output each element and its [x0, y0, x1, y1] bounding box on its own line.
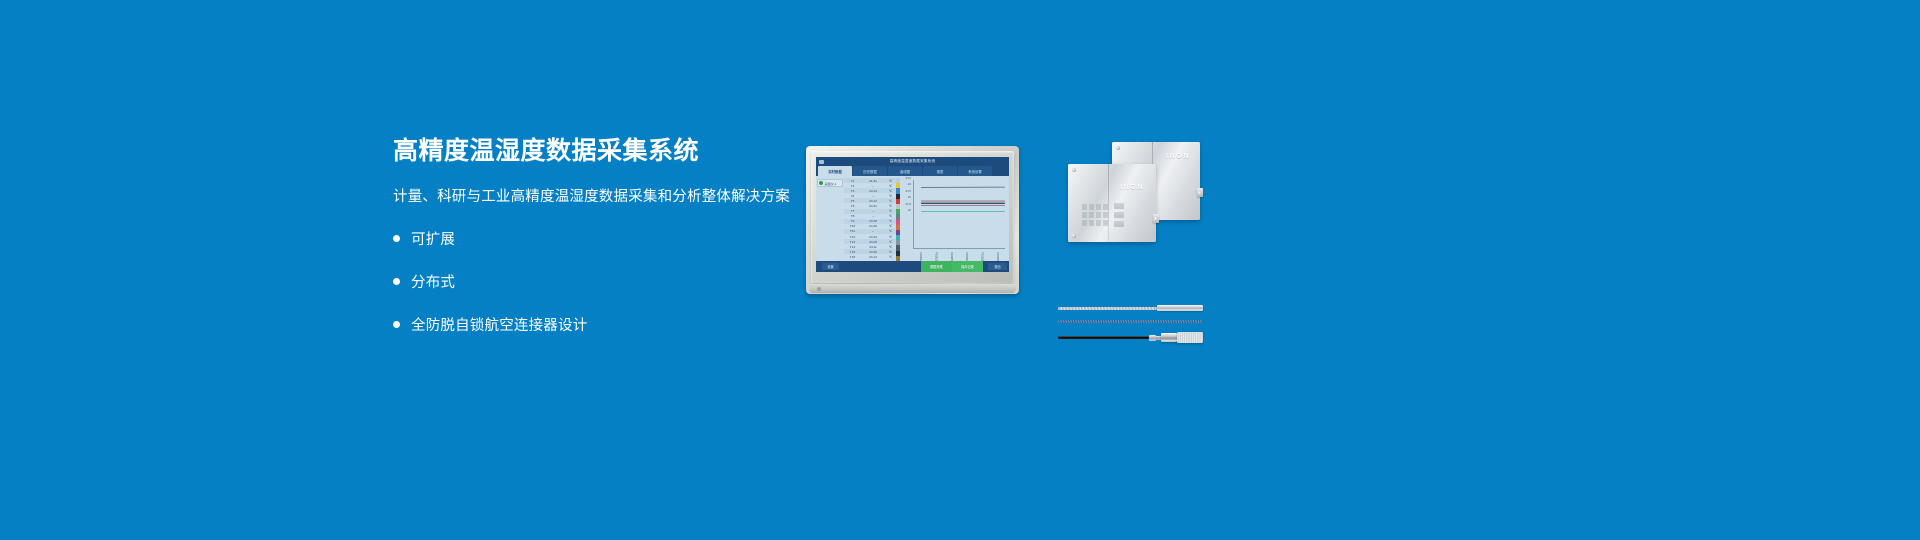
- feature-label: 全防脱自锁航空连接器设计: [411, 314, 587, 335]
- exit-button[interactable]: 退出: [988, 263, 1007, 270]
- channel-unit: ℃: [885, 204, 896, 208]
- channel-value: 21.31: [861, 179, 885, 183]
- table-row[interactable]: T1224.34℃: [844, 234, 896, 239]
- chart-y-tick-label: 23.5: [906, 189, 911, 193]
- channel-unit: ℃: [885, 250, 896, 254]
- channel-id: T7: [844, 209, 861, 213]
- table-row[interactable]: T524.12℃: [844, 198, 896, 203]
- terminal-cell: [1089, 204, 1094, 210]
- app-body: 采集仪-1 T121.31℃T2--℃T324.14℃T4--℃T524.12℃…: [816, 176, 1009, 261]
- channel-unit: ℃: [885, 240, 896, 244]
- product-banner: 高精度温湿度数据采集系统 计量、科研与工业高精度温湿度数据采集和分析整体解决方案…: [0, 0, 1920, 540]
- channel-unit: ℃: [885, 199, 896, 203]
- channel-unit: ℃: [885, 219, 896, 223]
- black-cable: [1058, 336, 1149, 339]
- chart-x-tick-label: 10:21:10: [965, 254, 968, 261]
- tab-curve-chart[interactable]: 曲线图: [888, 166, 922, 176]
- page-title: 高精度温湿度数据采集系统: [393, 138, 793, 166]
- chart-x-tick-label: 10:21:30: [981, 254, 984, 261]
- device-stand-screw-icon: [817, 287, 821, 291]
- module-brand-label: INON: [1120, 184, 1144, 191]
- module-seam: [1108, 164, 1109, 242]
- chart-y-tick-label: 22: [908, 208, 911, 212]
- connector-slot: [1114, 212, 1124, 218]
- copy-block: 高精度温湿度数据采集系统 计量、科研与工业高精度温湿度数据采集和分析整体解决方案…: [393, 138, 793, 355]
- channel-id: T16: [844, 255, 861, 259]
- module-brand-label: INON: [1166, 153, 1190, 160]
- channel-value: --: [861, 214, 885, 218]
- table-row[interactable]: T324.14℃: [844, 188, 896, 193]
- feature-label: 可扩展: [411, 228, 455, 249]
- module-connector-port: [1153, 214, 1159, 223]
- channel-value: --: [861, 184, 885, 188]
- table-row[interactable]: T11--℃: [844, 229, 896, 234]
- module-screw-icon: [1116, 146, 1120, 150]
- table-row[interactable]: T1624.14℃: [844, 254, 896, 259]
- feature-item: 可扩展: [393, 226, 793, 252]
- trend-chart: 24.52423.52322.522 10:20:1010:20:3010:20…: [902, 178, 1007, 261]
- app-title: 高精度温湿度数据采集系统: [816, 159, 1009, 164]
- channel-value: --: [861, 194, 885, 198]
- channel-unit: ℃: [885, 179, 896, 183]
- aviation-connector: [1149, 332, 1203, 343]
- chart-y-tick-label: 23: [908, 195, 911, 199]
- device-stand: [809, 284, 1016, 293]
- channel-value: --: [861, 209, 885, 213]
- channel-unit: ℃: [885, 255, 896, 259]
- acquisition-module-front: INON: [1068, 164, 1156, 242]
- channel-value: --: [861, 229, 885, 233]
- save-record-button[interactable]: 保存记录: [952, 261, 983, 272]
- channel-id: T3: [844, 189, 861, 193]
- channel-unit: ℃: [885, 229, 896, 233]
- channel-value: 24.11: [861, 245, 885, 249]
- channel-unit: ℃: [885, 224, 896, 228]
- channel-unit: ℃: [885, 235, 896, 239]
- connector-slots-graphic: [1114, 203, 1124, 227]
- chart-x-tick-label: 10:20:10: [919, 254, 922, 261]
- table-row[interactable]: T8--℃: [844, 214, 896, 219]
- table-row[interactable]: T2--℃: [844, 183, 896, 188]
- tab-history-data[interactable]: 历史数据: [853, 166, 887, 176]
- table-row[interactable]: T4--℃: [844, 193, 896, 198]
- channel-value: 24.12: [861, 199, 885, 203]
- channel-id: T10: [844, 224, 861, 228]
- settings-button[interactable]: 设置: [822, 263, 839, 270]
- channel-unit: ℃: [885, 245, 896, 249]
- channel-unit: ℃: [885, 214, 896, 218]
- terminal-cell: [1082, 212, 1087, 218]
- channel-value: 24.34: [861, 235, 885, 239]
- bullet-dot-icon: [393, 321, 400, 328]
- channel-value: 24.28: [861, 240, 885, 244]
- channel-id: T13: [844, 240, 861, 244]
- channel-id: T14: [844, 245, 861, 249]
- table-row[interactable]: T7--℃: [844, 209, 896, 214]
- connector-knurled-nut: [1177, 332, 1203, 343]
- connector-slot: [1114, 221, 1124, 227]
- table-row[interactable]: T1524.36℃: [844, 249, 896, 254]
- channel-value: 24.38: [861, 219, 885, 223]
- connector-barrel: [1161, 333, 1177, 342]
- feature-label: 分布式: [411, 271, 455, 292]
- chart-series-line: [921, 187, 1005, 188]
- footer-right-group: 数据采集 保存记录 退出: [921, 261, 1007, 272]
- chart-y-tick-label: 22.5: [906, 202, 911, 206]
- channel-id: T2: [844, 184, 861, 188]
- chart-x-axis: 10:20:1010:20:3010:20:5010:21:1010:21:30…: [913, 249, 1005, 261]
- tab-system-settings[interactable]: 系统设置: [958, 166, 992, 176]
- channel-readout-table: T121.31℃T2--℃T324.14℃T4--℃T524.12℃T624.4…: [844, 176, 896, 261]
- channel-unit: ℃: [885, 189, 896, 193]
- tab-realtime-data[interactable]: 实时数据: [818, 166, 852, 176]
- blue-sensor-cable: [1058, 320, 1203, 323]
- channel-id: T4: [844, 194, 861, 198]
- chart-x-tick-label: 10:20:30: [935, 254, 938, 261]
- terminal-cell: [1103, 212, 1108, 218]
- terminal-cell: [1089, 220, 1094, 226]
- device-screen: 高精度温湿度数据采集系统 实时数据 历史数据 曲线图 报表 系统设置 采集仪-1…: [816, 157, 1009, 272]
- terminal-cell: [1103, 204, 1108, 210]
- channel-value: 24.46: [861, 224, 885, 228]
- braided-cable: [1058, 307, 1157, 310]
- chart-x-tick-label: 10:21:50: [996, 254, 999, 261]
- bullet-dot-icon: [393, 278, 400, 285]
- probe-cable-group: [1058, 305, 1203, 351]
- device-tree-node[interactable]: 采集仪-1: [817, 179, 843, 187]
- channel-id: T5: [844, 199, 861, 203]
- device-tree-panel: 采集仪-1: [816, 176, 844, 261]
- module-screw-icon: [1072, 168, 1076, 172]
- bullet-dot-icon: [393, 235, 400, 242]
- tab-report[interactable]: 报表: [923, 166, 957, 176]
- chart-series-line: [921, 211, 1005, 212]
- feature-list: 可扩展 分布式 全防脱自锁航空连接器设计: [393, 226, 793, 338]
- chart-series-line: [921, 205, 1005, 206]
- terminal-cell: [1082, 204, 1087, 210]
- app-tab-strip: 实时数据 历史数据 曲线图 报表 系统设置: [816, 166, 1009, 176]
- module-connector-port: [1197, 188, 1203, 197]
- table-row[interactable]: T1424.11℃: [844, 244, 896, 249]
- channel-value: 24.36: [861, 250, 885, 254]
- channel-id: T12: [844, 235, 861, 239]
- channel-id: T9: [844, 219, 861, 223]
- table-row[interactable]: T924.38℃: [844, 219, 896, 224]
- table-row[interactable]: T121.31℃: [844, 178, 896, 183]
- feature-item: 全防脱自锁航空连接器设计: [393, 312, 793, 338]
- connector-slot: [1114, 203, 1124, 209]
- terminal-block-graphic: [1082, 204, 1108, 226]
- module-screw-icon: [1072, 234, 1076, 238]
- terminal-cell: [1096, 204, 1101, 210]
- channel-id: T15: [844, 250, 861, 254]
- channel-unit: ℃: [885, 209, 896, 213]
- channel-value: 24.14: [861, 255, 885, 259]
- probe-metal-tip: [1157, 305, 1203, 311]
- start-acquisition-button[interactable]: 数据采集: [921, 261, 952, 272]
- aviation-connector-cable: [1058, 332, 1203, 343]
- channel-unit: ℃: [885, 184, 896, 188]
- feature-item: 分布式: [393, 269, 793, 295]
- table-row[interactable]: T624.41℃: [844, 203, 896, 208]
- device-tree-node-label: 采集仪-1: [825, 181, 837, 186]
- channel-id: T11: [844, 229, 861, 233]
- terminal-cell: [1096, 220, 1101, 226]
- channel-value: 24.14: [861, 189, 885, 193]
- channel-id: T8: [844, 214, 861, 218]
- terminal-cell: [1103, 220, 1108, 226]
- hardware-modules-group: INON INON: [1060, 140, 1205, 300]
- chart-y-axis: 24.52423.52322.522: [902, 178, 912, 249]
- terminal-cell: [1089, 212, 1094, 218]
- panel-pc-device: 高精度温湿度数据采集系统 实时数据 历史数据 曲线图 报表 系统设置 采集仪-1…: [806, 146, 1019, 294]
- page-subtitle: 计量、科研与工业高精度温湿度数据采集和分析整体解决方案: [393, 185, 793, 206]
- connector-ferrule: [1149, 335, 1156, 341]
- table-row[interactable]: T1324.28℃: [844, 239, 896, 244]
- terminal-cell: [1082, 220, 1087, 226]
- terminal-cell: [1096, 212, 1101, 218]
- app-footer-toolbar: 设置 数据采集 保存记录 退出: [816, 261, 1009, 272]
- blue-cable: [1058, 320, 1203, 323]
- chart-y-tick-label: 24: [908, 182, 911, 186]
- app-titlebar: 高精度温湿度数据采集系统: [816, 157, 1009, 166]
- channel-id: T6: [844, 204, 861, 208]
- chart-plot-area: [913, 180, 1005, 249]
- channel-unit: ℃: [885, 194, 896, 198]
- channel-id: T1: [844, 179, 861, 183]
- table-row[interactable]: T1024.46℃: [844, 224, 896, 229]
- status-online-icon: [819, 181, 823, 185]
- channel-value: 24.41: [861, 204, 885, 208]
- braided-temperature-probe: [1058, 305, 1203, 311]
- series-color-key: [896, 178, 900, 261]
- chart-y-tick-label: 24.5: [906, 176, 911, 180]
- chart-x-tick-label: 10:20:50: [950, 254, 953, 261]
